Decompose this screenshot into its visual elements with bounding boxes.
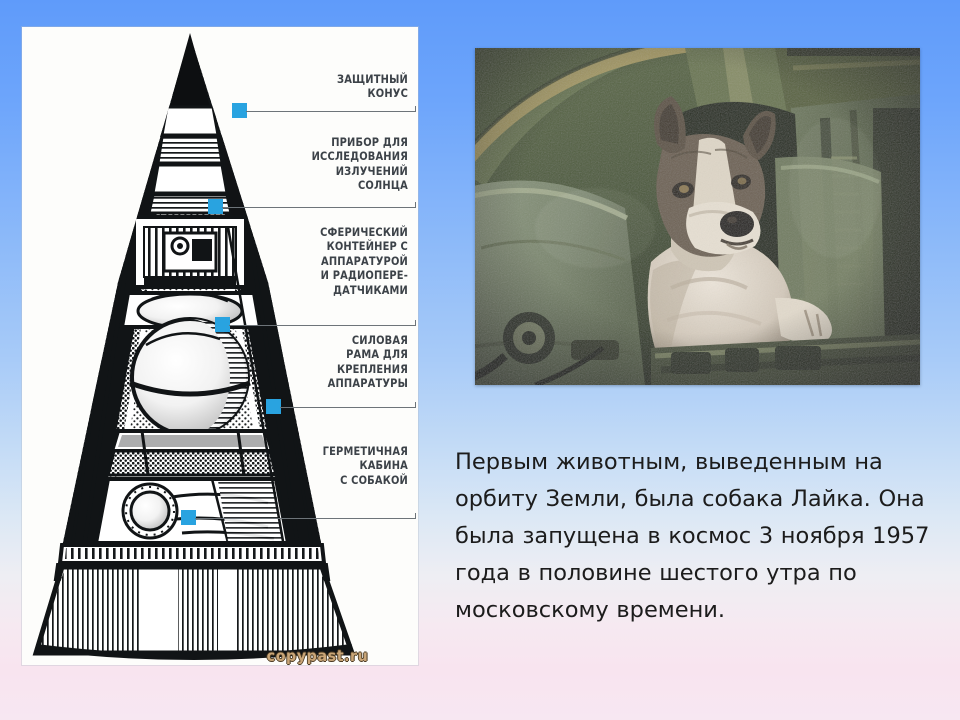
callout-marker-2[interactable]: [208, 199, 223, 214]
laika-photo: [475, 48, 920, 385]
leader-line-3: [229, 325, 416, 326]
diagram-label-pressurised-cabin: ГЕРМЕТИЧНАЯ КАБИНА С СОБАКОЙ: [276, 444, 408, 487]
caption-paragraph: Первым животным, выведенным на орбиту Зе…: [455, 444, 945, 629]
callout-marker-4[interactable]: [266, 399, 281, 414]
diagram-label-solar-instrument: ПРИБОР ДЛЯ ИССЛЕДОВАНИЯ ИЗЛУЧЕНИЙ СОЛНЦА: [276, 135, 408, 193]
laika-photo-content: [475, 48, 920, 385]
leader-line-4: [280, 407, 416, 408]
callout-marker-5[interactable]: [181, 510, 196, 525]
slide-canvas: copypast.ru ЗАЩИТНЫЙ КОНУС ПРИБОР ДЛЯ ИС…: [0, 0, 960, 720]
leader-line-2: [222, 207, 416, 208]
diagram-label-support-frame: СИЛОВАЯ РАМА ДЛЯ КРЕПЛЕНИЯ АППАРАТУРЫ: [276, 333, 408, 391]
diagram-label-spherical-container: СФЕРИЧЕСКИЙ КОНТЕЙНЕР С АППАРАТУРОЙ И РА…: [276, 225, 408, 297]
diagram-label-protective-cone: ЗАЩИТНЫЙ КОНУС: [293, 72, 408, 101]
leader-line-1: [246, 111, 416, 112]
callout-marker-1[interactable]: [232, 103, 247, 118]
callout-marker-3[interactable]: [215, 317, 230, 332]
leader-line-5: [195, 518, 416, 519]
caption-block: Первым животным, выведенным на орбиту Зе…: [455, 444, 945, 629]
watermark-copypast: copypast.ru: [267, 647, 369, 665]
